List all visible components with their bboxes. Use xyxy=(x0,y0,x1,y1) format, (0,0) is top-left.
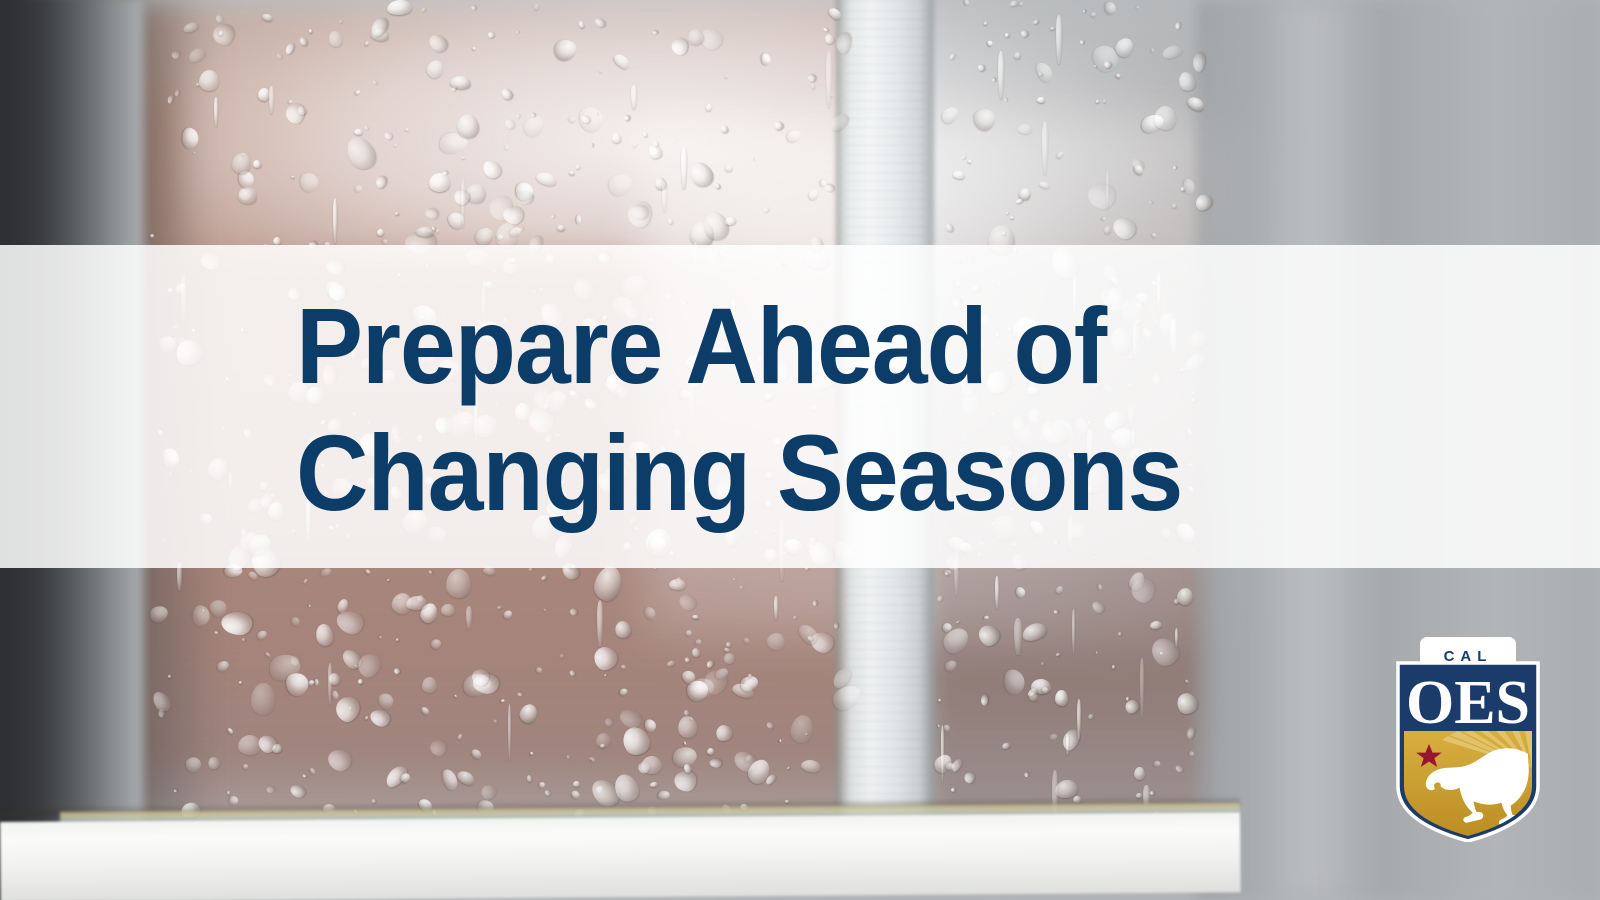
page-title: Prepare Ahead of Changing Seasons xyxy=(296,282,1235,537)
oes-wordmark: OES xyxy=(1406,669,1530,737)
window-sill xyxy=(0,812,1241,900)
social-graphic-canvas: Prepare Ahead of Changing Seasons CAL xyxy=(0,0,1600,900)
cal-oes-shield-logo[interactable]: CAL OES xyxy=(1392,636,1544,842)
